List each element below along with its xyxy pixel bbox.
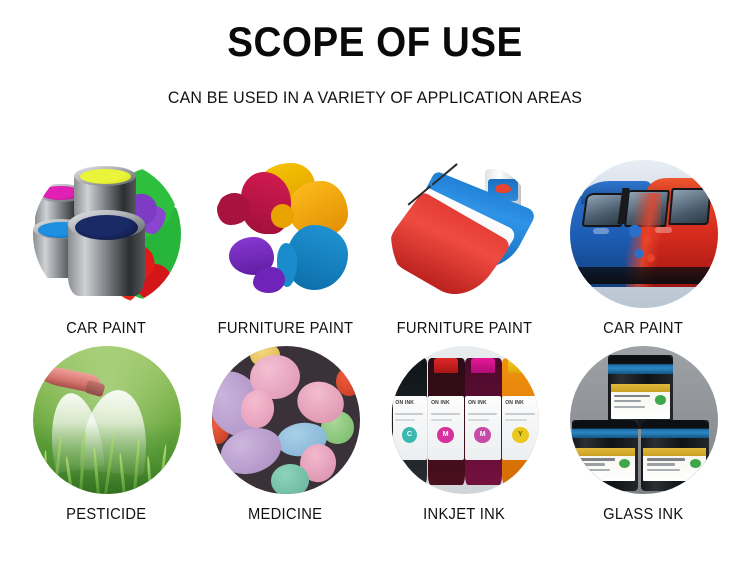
splash-darkred-left [217,193,250,226]
application-item-medicine[interactable]: MEDICINE [210,346,362,524]
bottle-label: ON INK M [465,396,501,460]
ink-color-badge: C [402,427,418,444]
two-tone-car-illustration [570,160,718,308]
thumbnail-inkjet-ink[interactable]: ON INK C ON INK M [391,346,539,494]
application-item-pesticide[interactable]: PESTICIDE [31,346,183,524]
pills-illustration [212,346,360,494]
tin-label [643,448,706,481]
car-door-handle-front [655,227,671,233]
bottle-label-text: ON INK [468,400,487,406]
car-door-handle-rear [593,228,609,234]
ink-bottle-cyan: ON INK C [392,358,428,485]
application-item-furniture-paint-roller[interactable]: FURNITURE PAINT [389,160,541,338]
tin-label [611,384,671,418]
thumbnail-two-tone-car[interactable] [570,160,718,308]
ink-bottles-illustration: ON INK C ON INK M [391,346,539,494]
application-label: CAR PAINT [66,320,146,338]
paint-splash-illustration [212,160,360,308]
bottle-label-text: ON INK [505,400,524,406]
thumbnail-paint-cans[interactable] [33,160,181,308]
application-item-car-paint-vehicle[interactable]: CAR PAINT [568,160,720,338]
paint-roller-illustration [391,160,539,308]
application-label: GLASS INK [603,506,683,524]
application-label: CAR PAINT [603,320,683,338]
tin-lid [572,420,637,438]
ink-bottle-yellow: ON INK Y [502,358,539,485]
car-window-front [669,188,712,225]
bottle-cap [471,358,495,373]
application-row-1: CAR PAINT FUR [0,160,750,338]
application-label: PESTICIDE [66,506,146,524]
application-item-inkjet-ink[interactable]: ON INK C ON INK M [389,346,541,524]
bottle-label: ON INK Y [502,396,538,460]
page-subtitle: CAN BE USED IN A VARIETY OF APPLICATION … [23,88,728,108]
page-header: SCOPE OF USE CAN BE USED IN A VARIETY OF… [0,0,750,108]
bottle-label-text: ON INK [431,400,450,406]
ink-bottle-magenta: ON INK M [465,358,502,485]
bottle-cap [434,358,458,373]
application-row-2: PESTICIDE [0,346,750,524]
splash-violet-bottom [253,267,286,294]
glass-ink-illustration [570,346,718,494]
application-label: MEDICINE [248,506,322,524]
ink-tin-left [572,420,637,491]
thumbnail-paint-splash[interactable] [212,160,360,308]
application-item-furniture-paint-splash[interactable]: FURNITURE PAINT [210,160,362,338]
thumbnail-pesticide[interactable] [33,346,181,494]
tin-lid [608,355,673,374]
paint-cans-illustration [33,160,181,308]
tin-lid [641,420,709,438]
scope-of-use-page: SCOPE OF USE CAN BE USED IN A VARIETY OF… [0,0,750,588]
paint-can-navy [68,210,145,296]
application-item-car-paint-cans[interactable]: CAR PAINT [31,160,183,338]
application-item-glass-ink[interactable]: GLASS INK [568,346,720,524]
tin-label [575,448,635,481]
thumbnail-medicine[interactable] [212,346,360,494]
page-title: SCOPE OF USE [30,20,720,64]
bottle-label: ON INK C [393,396,427,460]
application-label: FURNITURE PAINT [218,320,354,338]
ink-tin-top [608,355,673,429]
application-areas-grid: CAR PAINT FUR [0,160,750,532]
thumbnail-glass-ink[interactable] [570,346,718,494]
bottle-label: ON INK M [428,396,464,460]
application-label: FURNITURE PAINT [397,320,533,338]
application-label: INKJET INK [424,506,506,524]
pesticide-spray-illustration [33,346,181,494]
splash-amber-center [271,204,295,228]
ink-bottle-magenta-dark: ON INK M [428,358,465,485]
ink-color-badge: M [437,427,453,444]
car-lower-sill [570,267,718,285]
bottle-cap [398,358,421,373]
bottle-cap [508,358,533,373]
paint-droplets [629,222,659,266]
ink-color-badge: M [474,427,490,444]
thumbnail-paint-roller[interactable] [391,160,539,308]
ink-tin-right [641,420,709,491]
bottle-label-text: ON INK [395,400,414,406]
ink-color-badge: Y [512,427,529,444]
